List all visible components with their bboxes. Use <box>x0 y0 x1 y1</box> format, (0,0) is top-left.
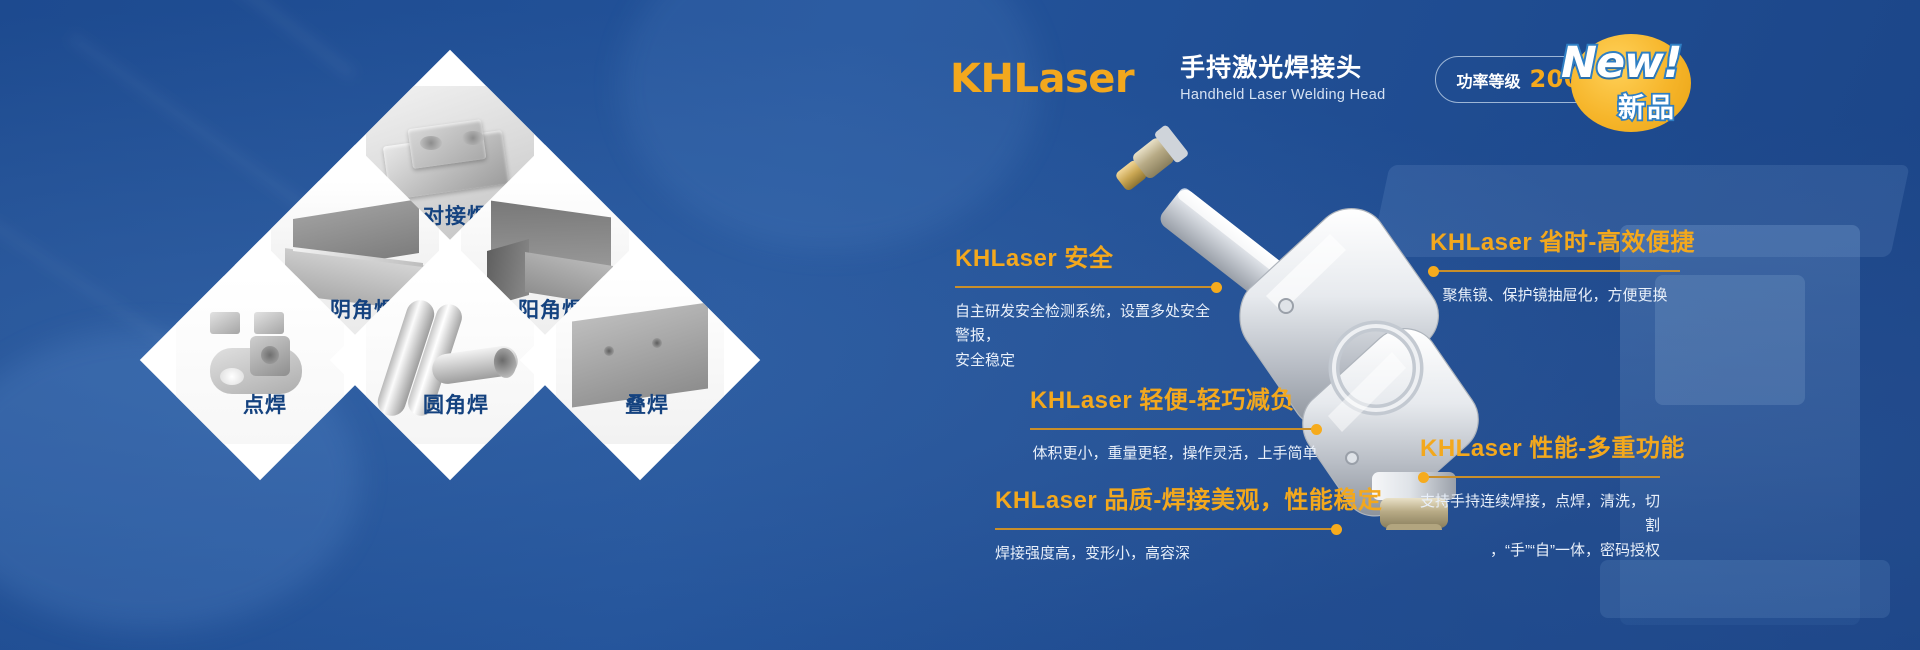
feature-quality-line <box>995 528 1340 530</box>
feature-lightweight-line <box>1030 428 1320 430</box>
brand-name: KHLaser <box>950 56 1134 102</box>
feature-quality-body: 焊接强度高，变形小，高容深 <box>995 542 1340 566</box>
power-rating-label: 功率等级 <box>1456 68 1520 92</box>
feature-safety-title: KHLaser 安全 <box>955 238 1220 273</box>
feature-safety-rule <box>955 280 1220 294</box>
product-title-cn: 手持激光焊接头 <box>1180 55 1385 83</box>
feature-lightweight-dot <box>1311 424 1322 435</box>
feature-lightweight: KHLaser 轻便-轻巧减负 体积更小，重量更轻，操作灵活，上手简单 <box>1030 380 1320 466</box>
weld-label-5: 叠焊 <box>625 389 669 419</box>
feature-time-saving-line <box>1430 270 1680 272</box>
feature-performance-body: 支持手持连续焊接，点焊，清洗，切割 ，“手”“自”一体，密码授权 <box>1420 490 1660 563</box>
feature-quality-dot <box>1331 524 1342 535</box>
new-badge-cn: 新品 <box>1577 86 1717 125</box>
feature-lightweight-rule <box>1030 422 1320 436</box>
feature-safety-dot <box>1211 282 1222 293</box>
feature-quality-rule <box>995 522 1340 536</box>
feature-time-saving-rule <box>1430 264 1680 278</box>
feature-lightweight-body: 体积更小，重量更轻，操作灵活，上手简单 <box>1030 442 1320 466</box>
feature-quality-title: KHLaser 品质-焊接美观，性能稳定 <box>995 480 1340 515</box>
feature-performance-line <box>1420 476 1660 478</box>
feature-safety-line <box>955 286 1220 288</box>
product-title-block: 手持激光焊接头 Handheld Laser Welding Head <box>1180 55 1385 103</box>
feature-time-saving-body: 聚焦镜、保护镜抽屉化，方便更换 <box>1430 284 1680 308</box>
new-badge-en-text: New! <box>1561 38 1682 88</box>
weld-type-gallery: 对接焊 阴角焊 阳角焊 <box>150 40 750 610</box>
feature-time-saving: KHLaser 省时-高效便捷 聚焦镜、保护镜抽屉化，方便更换 <box>1430 222 1680 308</box>
feature-performance-rule <box>1420 470 1660 484</box>
new-product-badge: New! 新品 <box>1555 30 1730 135</box>
feature-performance: KHLaser 性能-多重功能 支持手持连续焊接，点焊，清洗，切割 ，“手”“自… <box>1420 428 1660 563</box>
new-badge-en: New! <box>1555 38 1736 88</box>
feature-performance-dot <box>1418 472 1429 483</box>
promo-banner: 对接焊 阴角焊 阳角焊 <box>0 0 1920 650</box>
weld-label-4: 圆角焊 <box>423 389 489 419</box>
feature-safety: KHLaser 安全 自主研发安全检测系统，设置多处安全警报， 安全稳定 <box>955 238 1220 373</box>
bg-machine-base <box>1600 560 1890 618</box>
feature-lightweight-title: KHLaser 轻便-轻巧减负 <box>1030 380 1320 415</box>
feature-safety-body: 自主研发安全检测系统，设置多处安全警报， 安全稳定 <box>955 300 1220 373</box>
feature-time-saving-title: KHLaser 省时-高效便捷 <box>1430 222 1680 257</box>
feature-performance-title: KHLaser 性能-多重功能 <box>1420 428 1660 463</box>
feature-time-saving-dot <box>1428 266 1439 277</box>
feature-quality: KHLaser 品质-焊接美观，性能稳定 焊接强度高，变形小，高容深 <box>995 480 1340 566</box>
weld-label-3: 点焊 <box>243 389 287 419</box>
